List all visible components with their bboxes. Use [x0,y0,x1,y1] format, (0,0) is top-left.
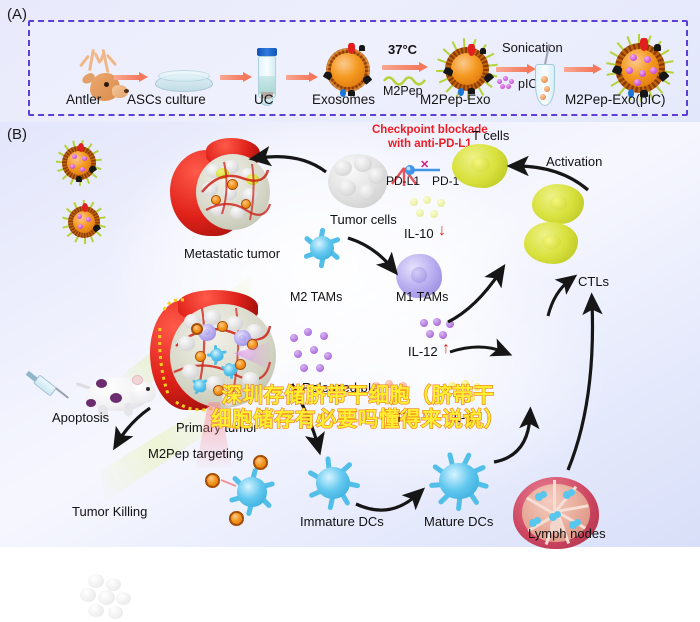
m2-tam-icon [300,226,344,270]
ctl-cell-icon-2 [524,222,578,264]
label-m2-tams: M2 TAMs [290,290,342,304]
step-label-m2pep-exo: M2Pep-Exo [420,92,491,107]
plc-cluster-icon [497,76,515,90]
nanoparticle-icon-1 [56,140,102,186]
step-label-uc: UC [254,92,274,107]
tumor-vasculature-icon [194,152,274,232]
ctl-cell-icon-1 [532,184,584,224]
panel-b-letter: (B) [7,126,27,143]
watermark-overlay: 深圳存储脐带干细胞（脐带干 细胞储存有必要吗懂得来说说） [168,384,548,432]
annotation-temperature: 37°C [388,42,417,57]
label-immature-dcs: Immature DCs [300,514,384,529]
panel-a-dashed-frame: Antler ASCs culture UC [28,20,688,116]
label-tumor-killing: Tumor Killing [72,504,147,519]
annotation-m2pep: M2Pep [383,84,423,98]
arrow-antler-to-culture [114,72,148,83]
label-pdl1: PD-L1 [386,174,420,188]
step-label-antler: Antler [66,92,101,107]
il10-trend-arrow: ↓ [438,222,446,240]
arrow-uc-to-exosomes [286,72,318,83]
label-ctls: CTLs [578,274,609,289]
label-tumor-cells: Tumor cells [330,212,397,227]
tumor-cells-icon [328,150,390,210]
sonicator-tube-icon [530,46,560,108]
immature-dc-icon [302,454,364,512]
step-label-m2pep-exo-plc: M2Pep-Exo(pIC) [565,92,666,107]
label-activation: Activation [546,154,602,169]
il12-trend-arrow: ↑ [442,340,450,358]
panel-a: (A) Antler [0,0,700,122]
m2pep-targeting-illustration [190,454,300,526]
exosome-icon [322,44,374,96]
label-lymph-nodes: Lymph nodes [528,526,606,541]
watermark-line-2: 细胞储存有必要吗懂得来说说） [168,408,548,432]
panel-b: (B) [0,122,700,547]
apoptotic-debris-icon [80,574,138,622]
arrow-culture-to-uc [220,72,252,83]
t-cell-icon-1 [452,144,508,188]
label-metastatic-tumor: Metastatic tumor [184,246,280,261]
step-label-ascs-culture: ASCs culture [127,92,206,107]
nanoparticle-icon-2 [62,200,106,244]
mature-dc-icon [424,448,494,514]
il12-cytokine-cluster [420,318,460,344]
peptide-exosome-icon [436,38,498,100]
figure-canvas: (A) Antler [0,0,700,547]
panel-a-letter: (A) [7,6,27,23]
arrow-sonication-to-product [564,64,602,75]
step-label-exosomes: Exosomes [312,92,375,107]
blocked-x-icon: ✕ [420,158,429,171]
watermark-line-1: 深圳存储脐带干细胞（脐带干 [168,384,548,408]
label-il12: IL-12 [408,344,438,359]
il10-cytokine-cluster [410,196,452,224]
label-mature-dcs: Mature DCs [424,514,493,529]
metastatic-tumor-icon [170,140,276,246]
label-checkpoint-line2: with anti-PD-L1 [388,138,472,150]
label-t-cells: T cells [472,128,509,143]
label-il10: IL-10 [404,226,434,241]
label-apoptosis: Apoptosis [52,410,109,425]
label-m1-tams: M1 TAMs [396,290,448,304]
label-checkpoint-line1: Checkpoint blockade [372,124,488,136]
released-plc-cluster [290,328,336,374]
